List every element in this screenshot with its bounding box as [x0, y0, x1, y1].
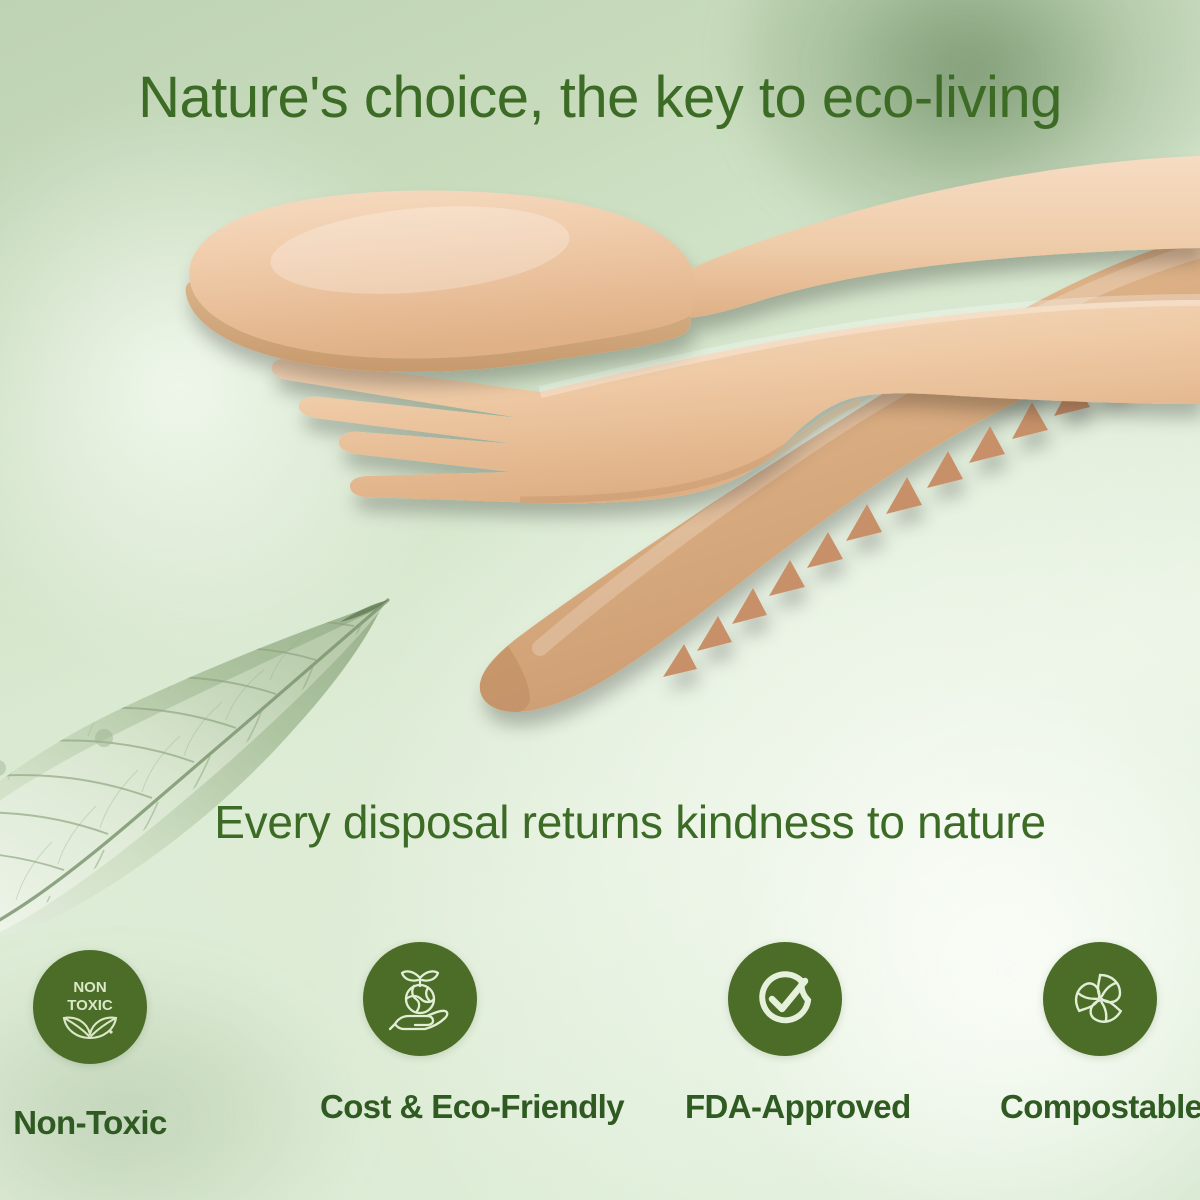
feature-badge-row: NON TOXIC Non-Toxic	[0, 930, 1200, 1200]
page-subtitle: Every disposal returns kindness to natur…	[0, 798, 1200, 846]
eco-cutlery-poster: Nature's choice, the key to eco-living	[0, 0, 1200, 1200]
cost-eco-badge-circle	[363, 942, 477, 1056]
non-toxic-leaves-icon: NON TOXIC	[49, 966, 131, 1048]
feature-badge-compostable: Compostable	[1000, 942, 1200, 1126]
feature-badge-fda-approved: FDA-Approved	[685, 942, 885, 1126]
badge-label-fda-approved: FDA-Approved	[685, 1088, 885, 1126]
check-circle-icon	[747, 961, 823, 1037]
feature-badge-non-toxic: NON TOXIC Non-Toxic	[0, 950, 190, 1142]
three-leaves-recycle-icon	[1062, 961, 1138, 1037]
badge-label-cost-eco-friendly: Cost & Eco-Friendly	[320, 1088, 520, 1126]
badge-label-compostable: Compostable	[1000, 1088, 1200, 1126]
badge-label-non-toxic: Non-Toxic	[0, 1104, 190, 1142]
non-toxic-icon-text-bottom: TOXIC	[67, 997, 113, 1014]
non-toxic-badge-circle: NON TOXIC	[33, 950, 147, 1064]
feature-badge-cost-eco-friendly: Cost & Eco-Friendly	[320, 942, 520, 1126]
non-toxic-icon-text-top: NON	[73, 979, 106, 996]
leaf-image	[0, 560, 434, 980]
compostable-badge-circle	[1043, 942, 1157, 1056]
hand-holding-globe-sprout-icon	[382, 961, 458, 1037]
fda-badge-circle	[728, 942, 842, 1056]
